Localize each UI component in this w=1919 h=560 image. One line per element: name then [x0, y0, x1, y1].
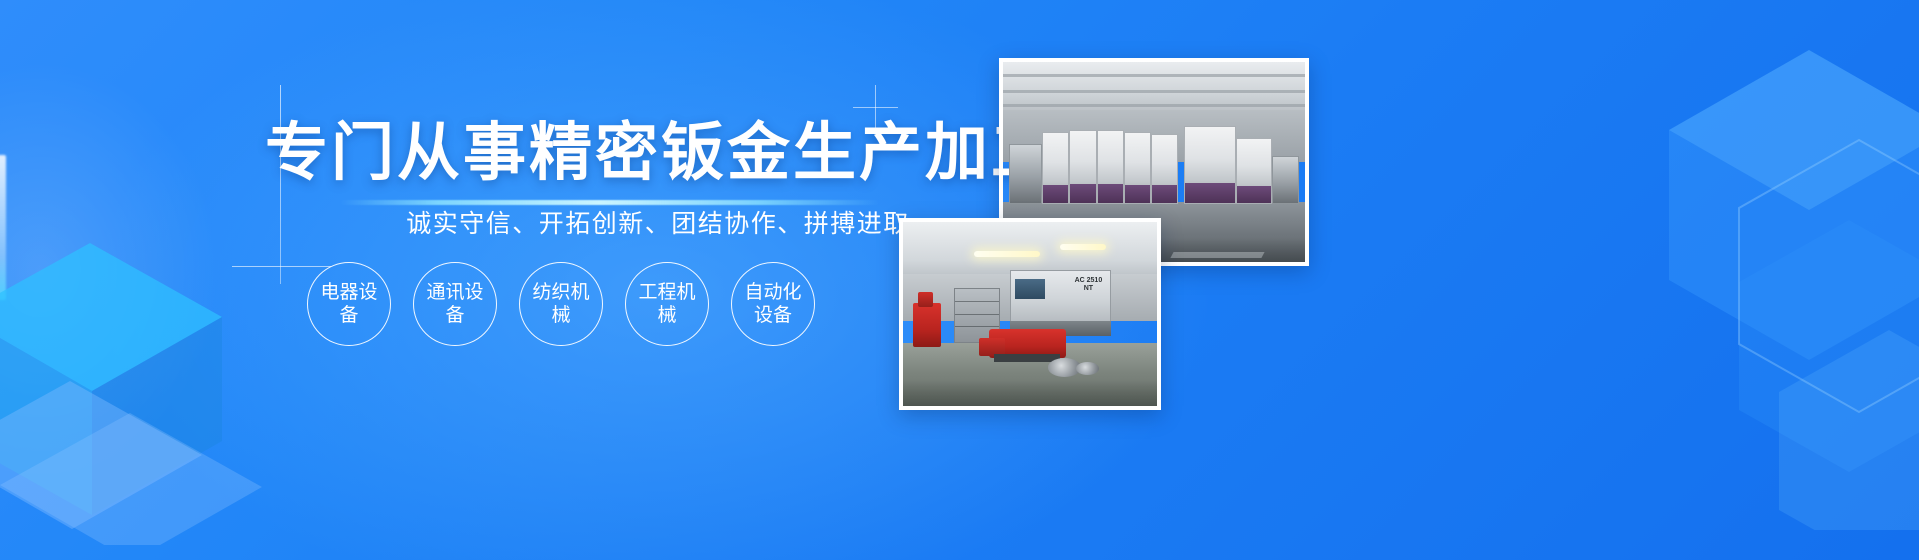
badge-label-line1: 通讯设	[426, 281, 483, 304]
badge-label-line1: 纺织机	[532, 281, 589, 304]
banner-subtitle: 诚实守信、开拓创新、团结协作、拼搏进取	[348, 204, 968, 240]
banner-content: 专门从事精密钣金生产加工 诚实守信、开拓创新、团结协作、拼搏进取 电器设 备 通…	[0, 0, 1010, 560]
category-badge-textile-machinery[interactable]: 纺织机 械	[519, 262, 603, 346]
promo-banner: 专门从事精密钣金生产加工 诚实守信、开拓创新、团结协作、拼搏进取 电器设 备 通…	[0, 0, 1919, 560]
category-badge-communication-equipment[interactable]: 通讯设 备	[413, 262, 497, 346]
badge-label-line2: 设备	[744, 304, 801, 327]
banner-headline: 专门从事精密钣金生产加工	[265, 118, 1057, 189]
hexagon-far-right-decoration	[1729, 130, 1919, 430]
photo-press-brake-workshop: AC 2510NT	[899, 218, 1161, 410]
badge-label-line1: 自动化	[744, 281, 801, 304]
badge-label-line2: 械	[638, 304, 695, 327]
isometric-cube-right-decoration	[1659, 30, 1919, 530]
category-badge-automation-equipment[interactable]: 自动化 设备	[731, 262, 815, 346]
badge-label-line1: 工程机	[638, 281, 695, 304]
badge-label-line2: 备	[320, 304, 377, 327]
badge-label-line1: 电器设	[320, 281, 377, 304]
category-badge-electrical-equipment[interactable]: 电器设 备	[307, 262, 391, 346]
category-badge-list: 电器设 备 通讯设 备 纺织机 械 工程机 械	[307, 262, 815, 346]
badge-label-line2: 械	[532, 304, 589, 327]
category-badge-engineering-machinery[interactable]: 工程机 械	[625, 262, 709, 346]
badge-label-line2: 备	[426, 304, 483, 327]
